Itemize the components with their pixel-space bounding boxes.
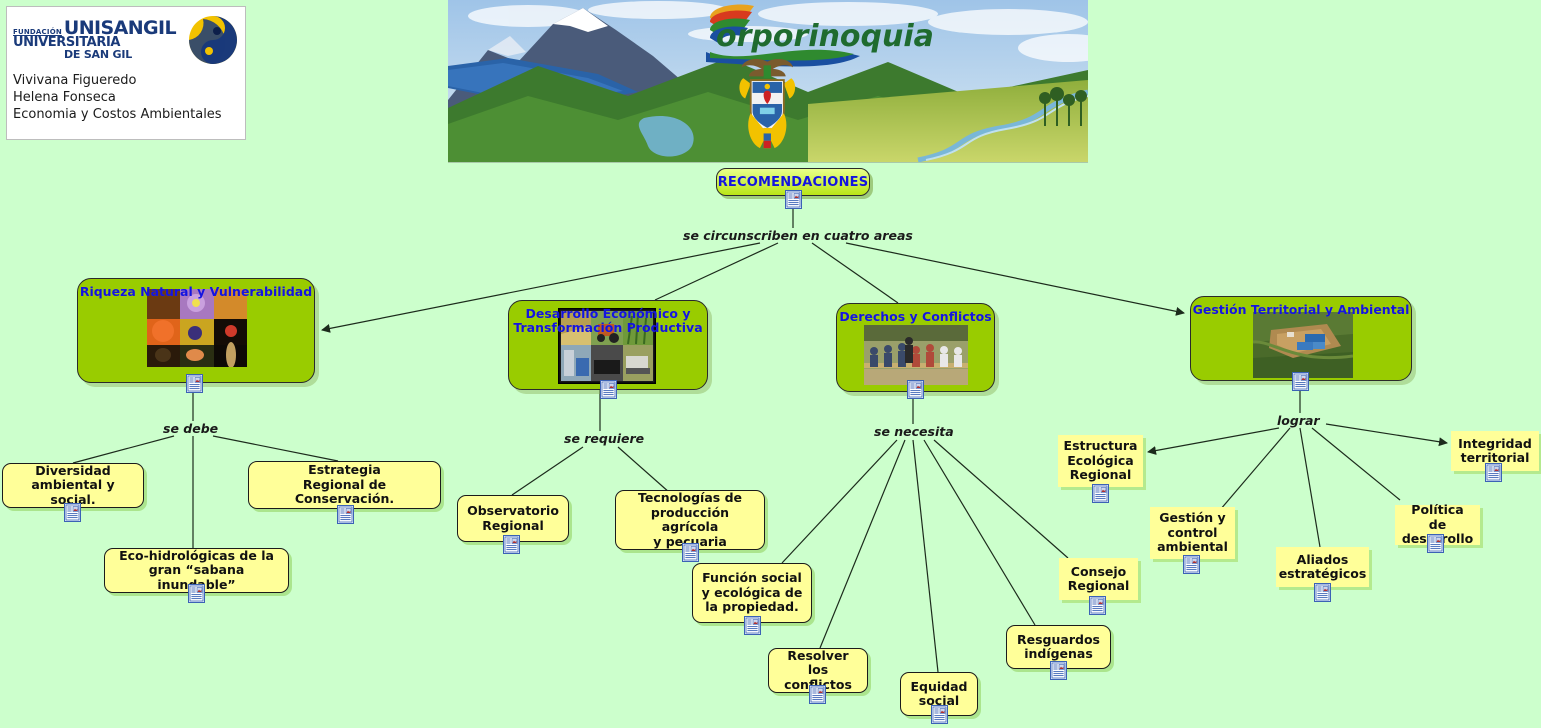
- de-san-gil-label: DE SAN GIL: [13, 49, 183, 60]
- note-document-icon[interactable]: [1089, 596, 1106, 615]
- note-document-icon[interactable]: [744, 616, 761, 635]
- note-document-icon[interactable]: [931, 705, 948, 724]
- biodiversity-collage-photo-icon: [147, 289, 247, 371]
- note-document-icon[interactable]: [1092, 484, 1109, 503]
- university-wordmark: FUNDACIÓN UNISANGIL UNIVERSITARIA DE SAN…: [13, 20, 183, 60]
- note-document-icon[interactable]: [1314, 583, 1331, 602]
- leaf-node-label: Consejo Regional: [1068, 565, 1130, 594]
- leaf-node-diversidad[interactable]: Diversidad ambiental y social.: [2, 463, 144, 508]
- corporinoquia-banner: orporinoquia: [448, 0, 1088, 163]
- note-document-icon[interactable]: [1292, 372, 1309, 391]
- svg-text:orporinoquia: orporinoquia: [716, 19, 934, 54]
- leaf-node-label: Estructura Ecológica Regional: [1064, 439, 1138, 483]
- leaf-node-label: Gestión y control ambiental: [1157, 511, 1228, 555]
- note-document-icon[interactable]: [682, 543, 699, 562]
- note-document-icon[interactable]: [186, 374, 203, 393]
- topic-node-derechos-conflictos[interactable]: Derechos y Conflictos: [836, 303, 995, 392]
- note-document-icon[interactable]: [1485, 463, 1502, 482]
- author-list: Vivivana Figueredo Helena Fonseca Econom…: [13, 72, 239, 123]
- topic-node-label: Derechos y Conflictos: [839, 310, 991, 324]
- link-label-se-requiere: se requiere: [564, 431, 644, 446]
- leaf-node-consejo-regional[interactable]: Consejo Regional: [1059, 558, 1138, 600]
- link-label-lograr: lograr: [1277, 413, 1320, 428]
- leaf-node-label: Función social y ecológica de la propied…: [702, 571, 803, 615]
- leaf-node-label: Resguardos indígenas: [1017, 633, 1100, 662]
- leaf-node-label: Observatorio Regional: [467, 504, 559, 533]
- note-document-icon[interactable]: [785, 190, 802, 209]
- concept-map-canvas: FUNDACIÓN UNISANGIL UNIVERSITARIA DE SAN…: [0, 0, 1541, 725]
- topic-node-riqueza-natural[interactable]: Riqueza Natural y Vulnerabilidad: [77, 278, 315, 383]
- leaf-node-label: Aliados estratégicos: [1279, 553, 1367, 582]
- note-document-icon[interactable]: [907, 380, 924, 399]
- topic-node-label: Gestión Territorial y Ambiental: [1193, 303, 1410, 317]
- note-document-icon[interactable]: [188, 584, 205, 603]
- leaf-node-label: Diversidad ambiental y social.: [11, 464, 135, 508]
- university-logo-row: FUNDACIÓN UNISANGIL UNIVERSITARIA DE SAN…: [13, 11, 239, 69]
- author-credit-card: FUNDACIÓN UNISANGIL UNIVERSITARIA DE SAN…: [6, 6, 246, 140]
- topic-node-label: Riqueza Natural y Vulnerabilidad: [80, 285, 312, 299]
- note-document-icon[interactable]: [1427, 534, 1444, 553]
- note-document-icon[interactable]: [809, 685, 826, 704]
- topic-node-gestion-territorial[interactable]: Gestión Territorial y Ambiental: [1190, 296, 1412, 381]
- leaf-node-label: Estrategia Regional de Conservación.: [257, 463, 432, 507]
- leaf-node-estructura-ecologica[interactable]: Estructura Ecológica Regional: [1058, 435, 1143, 487]
- root-node-label: RECOMENDACIONES: [718, 175, 869, 190]
- note-document-icon[interactable]: [1183, 555, 1200, 574]
- note-document-icon[interactable]: [1050, 661, 1067, 680]
- author-name-1: Vivivana Figueredo: [13, 72, 239, 89]
- link-label-se-necesita: se necesita: [874, 424, 954, 439]
- note-document-icon[interactable]: [600, 380, 617, 399]
- note-document-icon[interactable]: [337, 505, 354, 524]
- author-name-2: Helena Fonseca: [13, 89, 239, 106]
- topic-node-label: Desarrollo Económico y Transformación Pr…: [509, 307, 707, 335]
- orinoquia-landscape-photo-icon: orporinoquia: [448, 0, 1088, 162]
- link-label-root: se circunscriben en cuatro areas: [683, 228, 913, 243]
- leaf-node-label: Tecnologías de producción agrícola y pec…: [624, 491, 756, 549]
- leaf-node-tecnologias-produccion[interactable]: Tecnologías de producción agrícola y pec…: [615, 490, 765, 550]
- unisangil-yin-yang-logo-icon: [187, 14, 239, 66]
- topic-node-desarrollo-economico[interactable]: Desarrollo Económico y Transformación Pr…: [508, 300, 708, 390]
- leaf-node-aliados-estrategicos[interactable]: Aliados estratégicos: [1276, 547, 1369, 587]
- leaf-node-label: Integridad territorial: [1458, 437, 1532, 466]
- leaf-node-estrategia-regional[interactable]: Estrategia Regional de Conservación.: [248, 461, 441, 509]
- note-document-icon[interactable]: [503, 535, 520, 554]
- leaf-node-funcion-social[interactable]: Función social y ecológica de la propied…: [692, 563, 812, 623]
- link-label-se-debe: se debe: [163, 421, 218, 436]
- note-document-icon[interactable]: [64, 503, 81, 522]
- leaf-node-gestion-control-ambiental[interactable]: Gestión y control ambiental: [1150, 507, 1235, 559]
- course-name: Economia y Costos Ambientales: [13, 106, 239, 123]
